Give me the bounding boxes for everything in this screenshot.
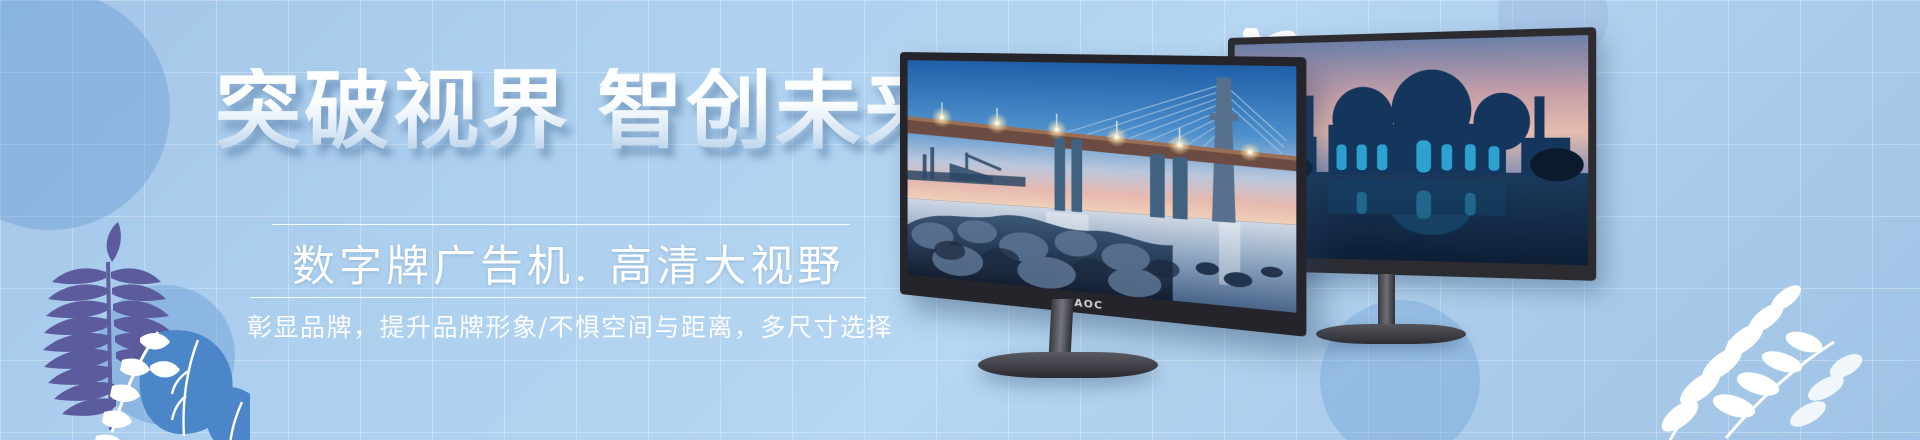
divider-bottom (250, 297, 866, 298)
rear-monitor-base (1316, 324, 1466, 344)
decorative-circle-bottom-left (95, 285, 235, 425)
aoc-logo: AOC (1074, 297, 1103, 312)
divider-top (272, 224, 850, 225)
front-monitor-base (978, 352, 1158, 378)
rear-monitor-neck (1378, 274, 1395, 328)
tagline: 彰显品牌，提升品牌形象/不惧空间与距离，多尺寸选择 (247, 308, 893, 344)
promo-banner: 突破视界智创未来 数字牌广告机. 高清大视野 彰显品牌，提升品牌形象/不惧空间与… (0, 0, 1920, 440)
headline-part-1: 突破视界 (215, 61, 571, 161)
front-monitor-bezel: AOC (900, 52, 1306, 337)
botanical-leaves-right-icon (1630, 238, 1880, 440)
page-title: 突破视界智创未来 (215, 68, 953, 154)
front-monitor: AOC (900, 52, 1320, 352)
subtitle: 数字牌广告机. 高清大视野 (292, 232, 844, 294)
front-monitor-screen (908, 60, 1297, 313)
decorative-circle-top-left (0, 0, 170, 230)
